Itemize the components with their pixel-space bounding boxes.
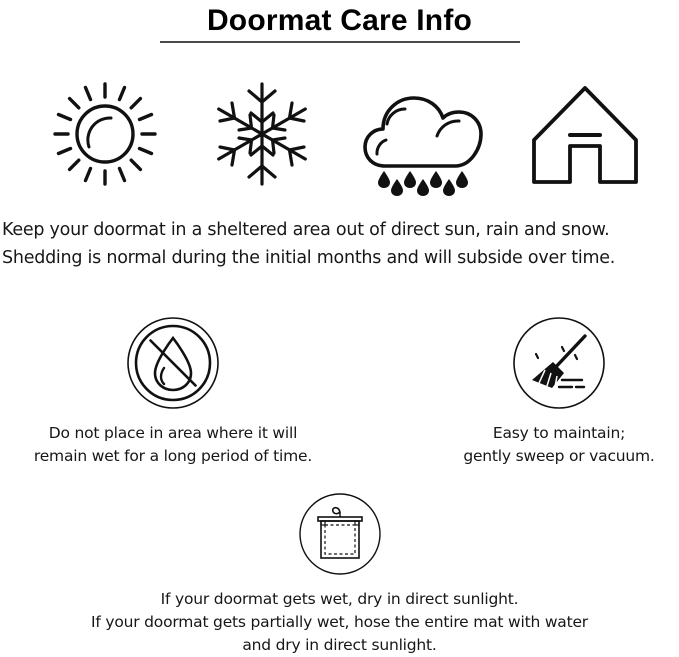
sweep-caption-line-1: Easy to maintain; <box>394 422 679 445</box>
hang-dry-caption-line-3: and dry in direct sunlight. <box>0 634 679 657</box>
page-title-block: Doormat Care Info <box>0 0 679 43</box>
care-item-sweep-caption: Easy to maintain; gently sweep or vacuum… <box>394 422 679 468</box>
sweep-caption-line-2: gently sweep or vacuum. <box>394 445 679 468</box>
weather-icon-row <box>0 78 679 193</box>
title-underline-rule <box>160 41 520 43</box>
house-icon <box>505 78 665 193</box>
page-title: Doormat Care Info <box>0 0 679 40</box>
hang-dry-caption: If your doormat gets wet, dry in direct … <box>0 588 679 657</box>
raindrops-lower-row <box>342 175 502 205</box>
no-water-caption-line-2: remain wet for a long period of time. <box>8 445 338 468</box>
care-item-no-water-caption: Do not place in area where it will remai… <box>8 422 338 468</box>
intro-paragraph: Keep your doormat in a sheltered area ou… <box>2 216 679 272</box>
care-pair-row: Do not place in area where it will remai… <box>0 316 679 461</box>
sun-icon <box>25 78 185 193</box>
no-water-icon <box>126 316 220 410</box>
intro-line-1: Keep your doormat in a sheltered area ou… <box>2 216 679 244</box>
hang-dry-caption-line-1: If your doormat gets wet, dry in direct … <box>0 588 679 611</box>
snowflake-icon <box>182 78 342 193</box>
no-water-caption-line-1: Do not place in area where it will <box>8 422 338 445</box>
care-item-no-water: Do not place in area where it will remai… <box>8 316 338 468</box>
hang-dry-caption-line-2: If your doormat gets partially wet, hose… <box>0 611 679 634</box>
broom-sweep-icon <box>512 316 606 410</box>
care-item-hang-dry: If your doormat gets wet, dry in direct … <box>0 492 679 657</box>
hang-to-dry-icon <box>298 492 382 576</box>
care-item-sweep: Easy to maintain; gently sweep or vacuum… <box>394 316 679 468</box>
intro-line-2: Shedding is normal during the initial mo… <box>2 244 679 272</box>
